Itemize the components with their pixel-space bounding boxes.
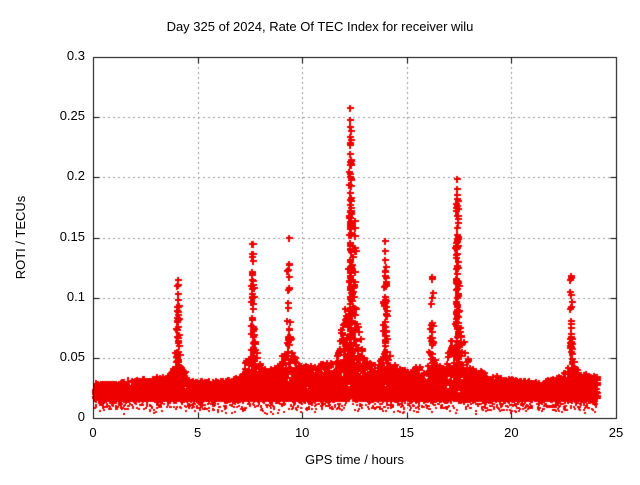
- y-tick-label: 0.3: [19, 48, 85, 63]
- y-tick-label: 0.2: [19, 168, 85, 183]
- x-tick-label: 0: [68, 425, 118, 440]
- y-tick-label: 0.25: [19, 108, 85, 123]
- x-tick-label: 25: [591, 425, 640, 440]
- x-tick-label: 15: [382, 425, 432, 440]
- x-tick-label: 10: [277, 425, 327, 440]
- scatter-plot-canvas: [0, 0, 640, 480]
- x-tick-label: 5: [173, 425, 223, 440]
- y-tick-label: 0.1: [19, 289, 85, 304]
- plot-canvas-container: [0, 0, 640, 485]
- chart-figure: Day 325 of 2024, Rate Of TEC Index for r…: [0, 0, 640, 480]
- y-tick-label: 0.15: [19, 229, 85, 244]
- y-tick-label: 0: [19, 409, 85, 424]
- y-tick-label: 0.05: [19, 349, 85, 364]
- x-tick-label: 20: [486, 425, 536, 440]
